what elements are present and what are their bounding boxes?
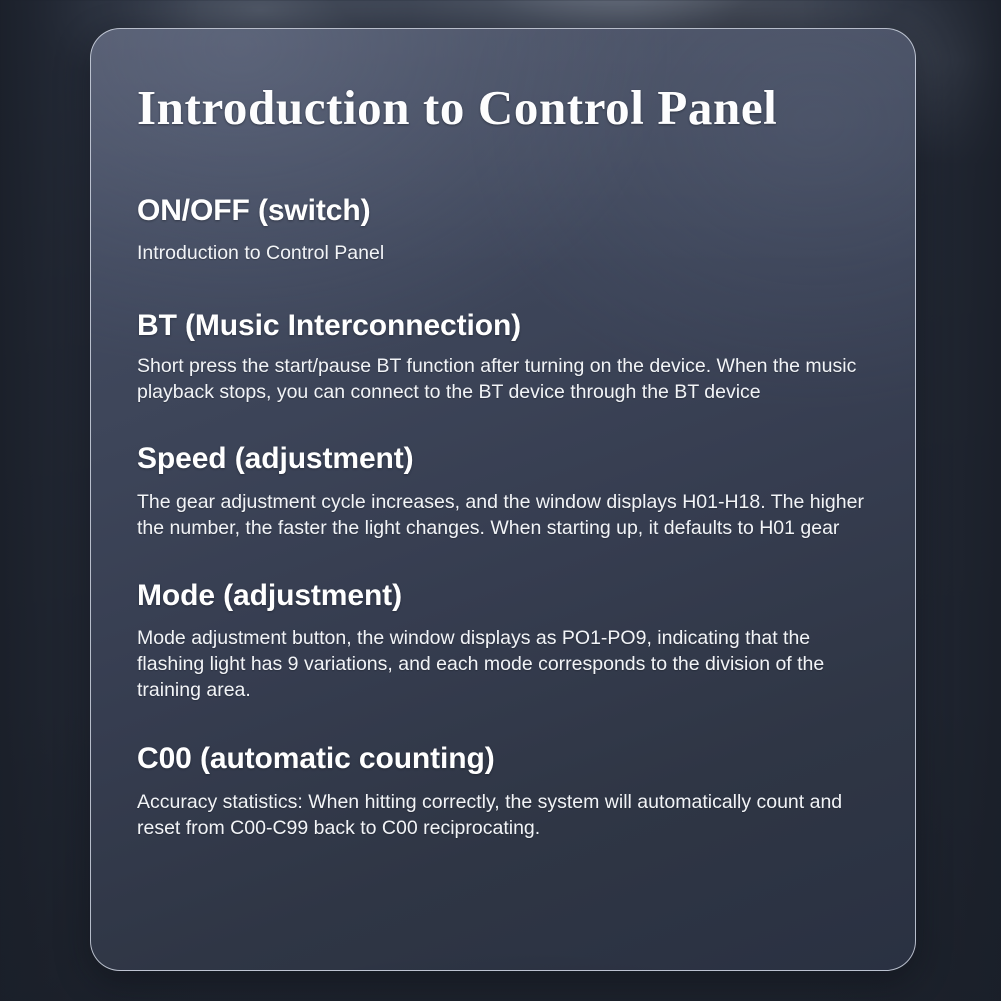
page-title: Introduction to Control Panel bbox=[137, 29, 869, 132]
section-body-mode: Mode adjustment button, the window displ… bbox=[137, 625, 867, 703]
section-speed: Speed (adjustment) The gear adjustment c… bbox=[137, 442, 869, 541]
section-heading-on-off: ON/OFF (switch) bbox=[137, 194, 869, 228]
section-heading-speed: Speed (adjustment) bbox=[137, 442, 869, 476]
card-content: Introduction to Control Panel ON/OFF (sw… bbox=[91, 29, 915, 841]
section-on-off: ON/OFF (switch) Introduction to Control … bbox=[137, 194, 869, 266]
section-mode: Mode (adjustment) Mode adjustment button… bbox=[137, 579, 869, 704]
section-heading-c00: C00 (automatic counting) bbox=[137, 742, 869, 776]
section-body-bt: Short press the start/pause BT function … bbox=[137, 353, 867, 405]
control-panel-card: Introduction to Control Panel ON/OFF (sw… bbox=[90, 28, 916, 971]
section-heading-bt: BT (Music Interconnection) bbox=[137, 309, 869, 343]
section-body-speed: The gear adjustment cycle increases, and… bbox=[137, 489, 867, 541]
section-body-on-off: Introduction to Control Panel bbox=[137, 240, 867, 266]
section-c00: C00 (automatic counting) Accuracy statis… bbox=[137, 742, 869, 841]
section-body-c00: Accuracy statistics: When hitting correc… bbox=[137, 789, 867, 841]
section-bt: BT (Music Interconnection) Short press t… bbox=[137, 309, 869, 406]
section-heading-mode: Mode (adjustment) bbox=[137, 579, 869, 613]
